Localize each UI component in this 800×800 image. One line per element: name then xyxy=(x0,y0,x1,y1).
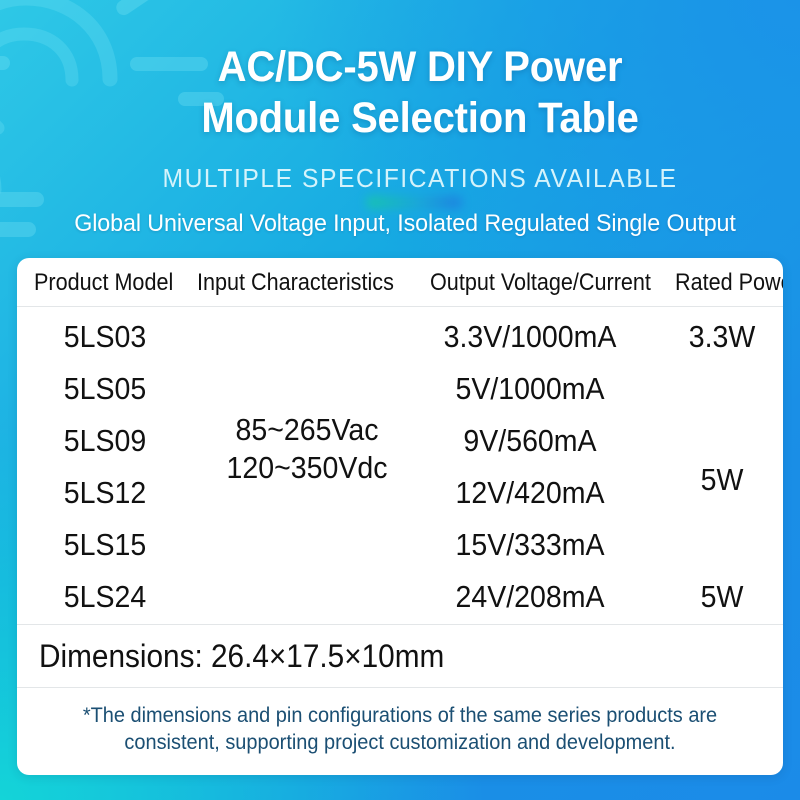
cell-rated-power: 5W xyxy=(653,579,783,615)
cell-output: 3.3V/1000mA xyxy=(412,319,648,355)
cell-output: 15V/333mA xyxy=(412,527,648,563)
page-subtitle: MULTIPLE SPECIFICATIONS AVAILABLE xyxy=(116,163,724,193)
cell-rated-power: 5W xyxy=(653,462,783,498)
column-header-output-voltage-current: Output Voltage/Current xyxy=(430,269,651,297)
page-tagline: Global Universal Voltage Input, Isolated… xyxy=(39,209,771,239)
table-row: 5LS09 xyxy=(31,423,178,459)
cell-output: 5V/1000mA xyxy=(412,371,648,407)
cell-rated-power: 3.3W xyxy=(653,319,783,355)
table-row: 5LS12 xyxy=(31,475,178,511)
input-characteristics-dc: 120~350Vdc xyxy=(197,449,418,487)
dimensions-label: Dimensions: 26.4×17.5×10mm xyxy=(39,637,444,675)
page-title: AC/DC-5W DIY Power Module Selection Tabl… xyxy=(141,42,699,144)
accent-blob xyxy=(366,196,462,209)
table-body: 5LS03 5LS05 5LS09 5LS12 5LS15 5LS24 85~2… xyxy=(17,307,783,624)
table-row: 5LS05 xyxy=(31,371,178,407)
column-header-product-model: Product Model xyxy=(34,269,173,297)
dimensions-row: Dimensions: 26.4×17.5×10mm xyxy=(17,625,783,687)
footnote-line1: *The dimensions and pin configurations o… xyxy=(83,704,717,727)
footnote-line2: consistent, supporting project customiza… xyxy=(124,731,675,754)
hero-header: AC/DC-5W DIY Power Module Selection Tabl… xyxy=(0,0,800,258)
footnote: *The dimensions and pin configurations o… xyxy=(17,688,783,774)
page-title-line2: Module Selection Table xyxy=(141,93,699,144)
page-title-line1: AC/DC-5W DIY Power xyxy=(141,42,699,93)
table-row: 5LS03 xyxy=(31,319,178,355)
selection-table-card: Product Model Input Characteristics Outp… xyxy=(17,258,783,775)
page-root: AC/DC-5W DIY Power Module Selection Tabl… xyxy=(0,0,800,800)
column-header-rated-power: Rated Power xyxy=(675,269,783,297)
cell-output: 9V/560mA xyxy=(412,423,648,459)
cell-output: 24V/208mA xyxy=(412,579,648,615)
column-header-input-characteristics: Input Characteristics xyxy=(197,269,394,297)
footnote-text: *The dimensions and pin configurations o… xyxy=(59,702,741,756)
table-row: 5LS24 xyxy=(31,579,178,615)
table-row: 5LS15 xyxy=(31,527,178,563)
input-characteristics-ac: 85~265Vac xyxy=(197,411,418,449)
cell-input-characteristics: 85~265Vac 120~350Vdc xyxy=(197,411,418,487)
table-header-row: Product Model Input Characteristics Outp… xyxy=(17,258,783,306)
cell-output: 12V/420mA xyxy=(412,475,648,511)
